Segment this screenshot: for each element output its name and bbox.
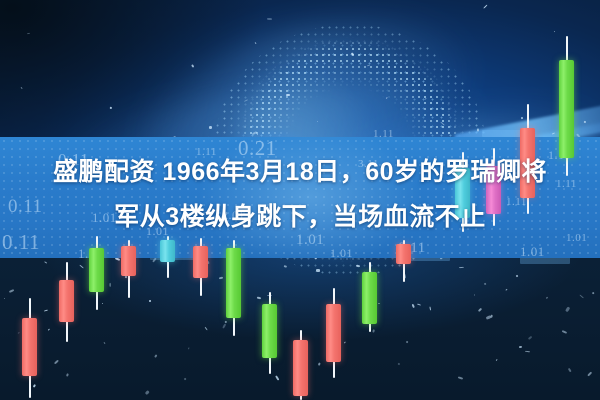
ticker-bar (482, 130, 522, 137)
candle-body (293, 340, 308, 396)
candle-body (559, 60, 574, 158)
candle-body (396, 244, 411, 264)
candle-body (121, 246, 136, 276)
candle-body (262, 304, 277, 358)
candle-body (326, 304, 341, 362)
candle-body (89, 248, 104, 292)
candlestick (226, 240, 241, 336)
candle-body (59, 280, 74, 322)
candle-body (226, 248, 241, 318)
candlestick (89, 236, 104, 310)
candle-body (193, 246, 208, 278)
candlestick (193, 238, 208, 296)
candlestick (59, 262, 74, 342)
candlestick (121, 240, 136, 298)
candle-body (362, 272, 377, 324)
headline-line-2: 军从3楼纵身跳下，当场血流不止 (0, 195, 600, 240)
promo-banner-image: 0.110.110.111.011.011.010.211.112.011.01… (0, 0, 600, 400)
candlestick (293, 330, 308, 400)
headline-text: 盛鹏配资 1966年3月18日，60岁的罗瑞卿将 军从3楼纵身跳下，当场血流不止 (0, 150, 600, 240)
candlestick (22, 298, 37, 398)
candle-body (160, 240, 175, 262)
candle-body (22, 318, 37, 376)
candlestick (362, 262, 377, 332)
candlestick (326, 288, 341, 378)
candlestick (160, 236, 175, 278)
candlestick (262, 292, 277, 374)
candlestick (396, 240, 411, 282)
headline-line-1: 盛鹏配资 1966年3月18日，60岁的罗瑞卿将 (0, 150, 600, 195)
